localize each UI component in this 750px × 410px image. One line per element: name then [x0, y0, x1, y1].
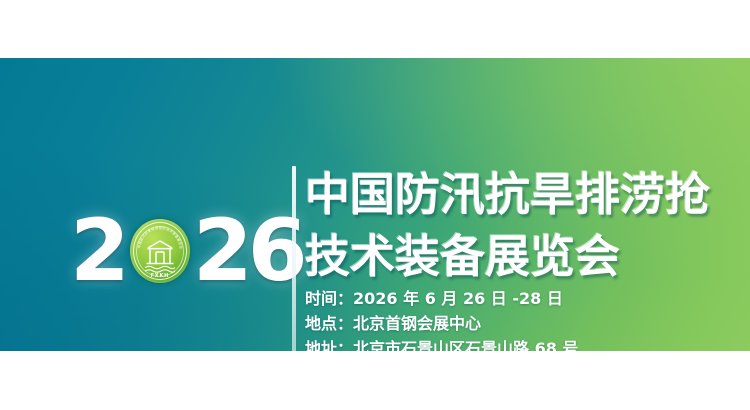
event-date-row: 时间：2026 年 6 月 26 日 -28 日	[305, 286, 578, 311]
event-title-line-2: 技术装备展览会	[305, 226, 750, 288]
banner-background: 2 中国防汛抗旱排涝抢险技术装备展览会	[0, 58, 750, 351]
event-title-line-1: 中国防汛抗旱排涝抢	[305, 164, 750, 226]
event-date-label: 时间：	[305, 289, 353, 308]
year-digit-1: 2	[70, 208, 128, 294]
event-details: 时间：2026 年 6 月 26 日 -28 日 地点：北京首钢会展中心 地址：…	[305, 286, 578, 351]
year-logo: 2 中国防汛抗旱排涝抢险技术装备展览会	[70, 208, 306, 294]
event-address-row: 地址：北京市石景山区石景山路 68 号	[305, 336, 578, 351]
event-title: 中国防汛抗旱排涝抢 技术装备展览会	[305, 164, 750, 288]
svg-text:中国防汛抗旱排涝抢险技术装备展览会: 中国防汛抗旱排涝抢险技术装备展览会	[136, 225, 184, 250]
event-venue-label: 地点：	[305, 314, 353, 333]
event-date-value: 2026 年 6 月 26 日 -28 日	[353, 289, 563, 308]
banner-image: 2 中国防汛抗旱排涝抢险技术装备展览会	[0, 0, 750, 410]
year-digit-2: 2	[193, 208, 251, 294]
event-address-value: 北京市石景山区石景山路 68 号	[353, 339, 578, 351]
year-digit-3: 6	[248, 208, 306, 294]
exhibition-emblem-icon: 中国防汛抗旱排涝抢险技术装备展览会	[128, 216, 192, 286]
event-venue-row: 地点：北京首钢会展中心	[305, 311, 578, 336]
event-address-label: 地址：	[305, 339, 353, 351]
event-venue-value: 北京首钢会展中心	[353, 314, 481, 333]
vertical-divider	[292, 166, 296, 351]
emblem-abbreviation: FXKH	[128, 273, 192, 279]
